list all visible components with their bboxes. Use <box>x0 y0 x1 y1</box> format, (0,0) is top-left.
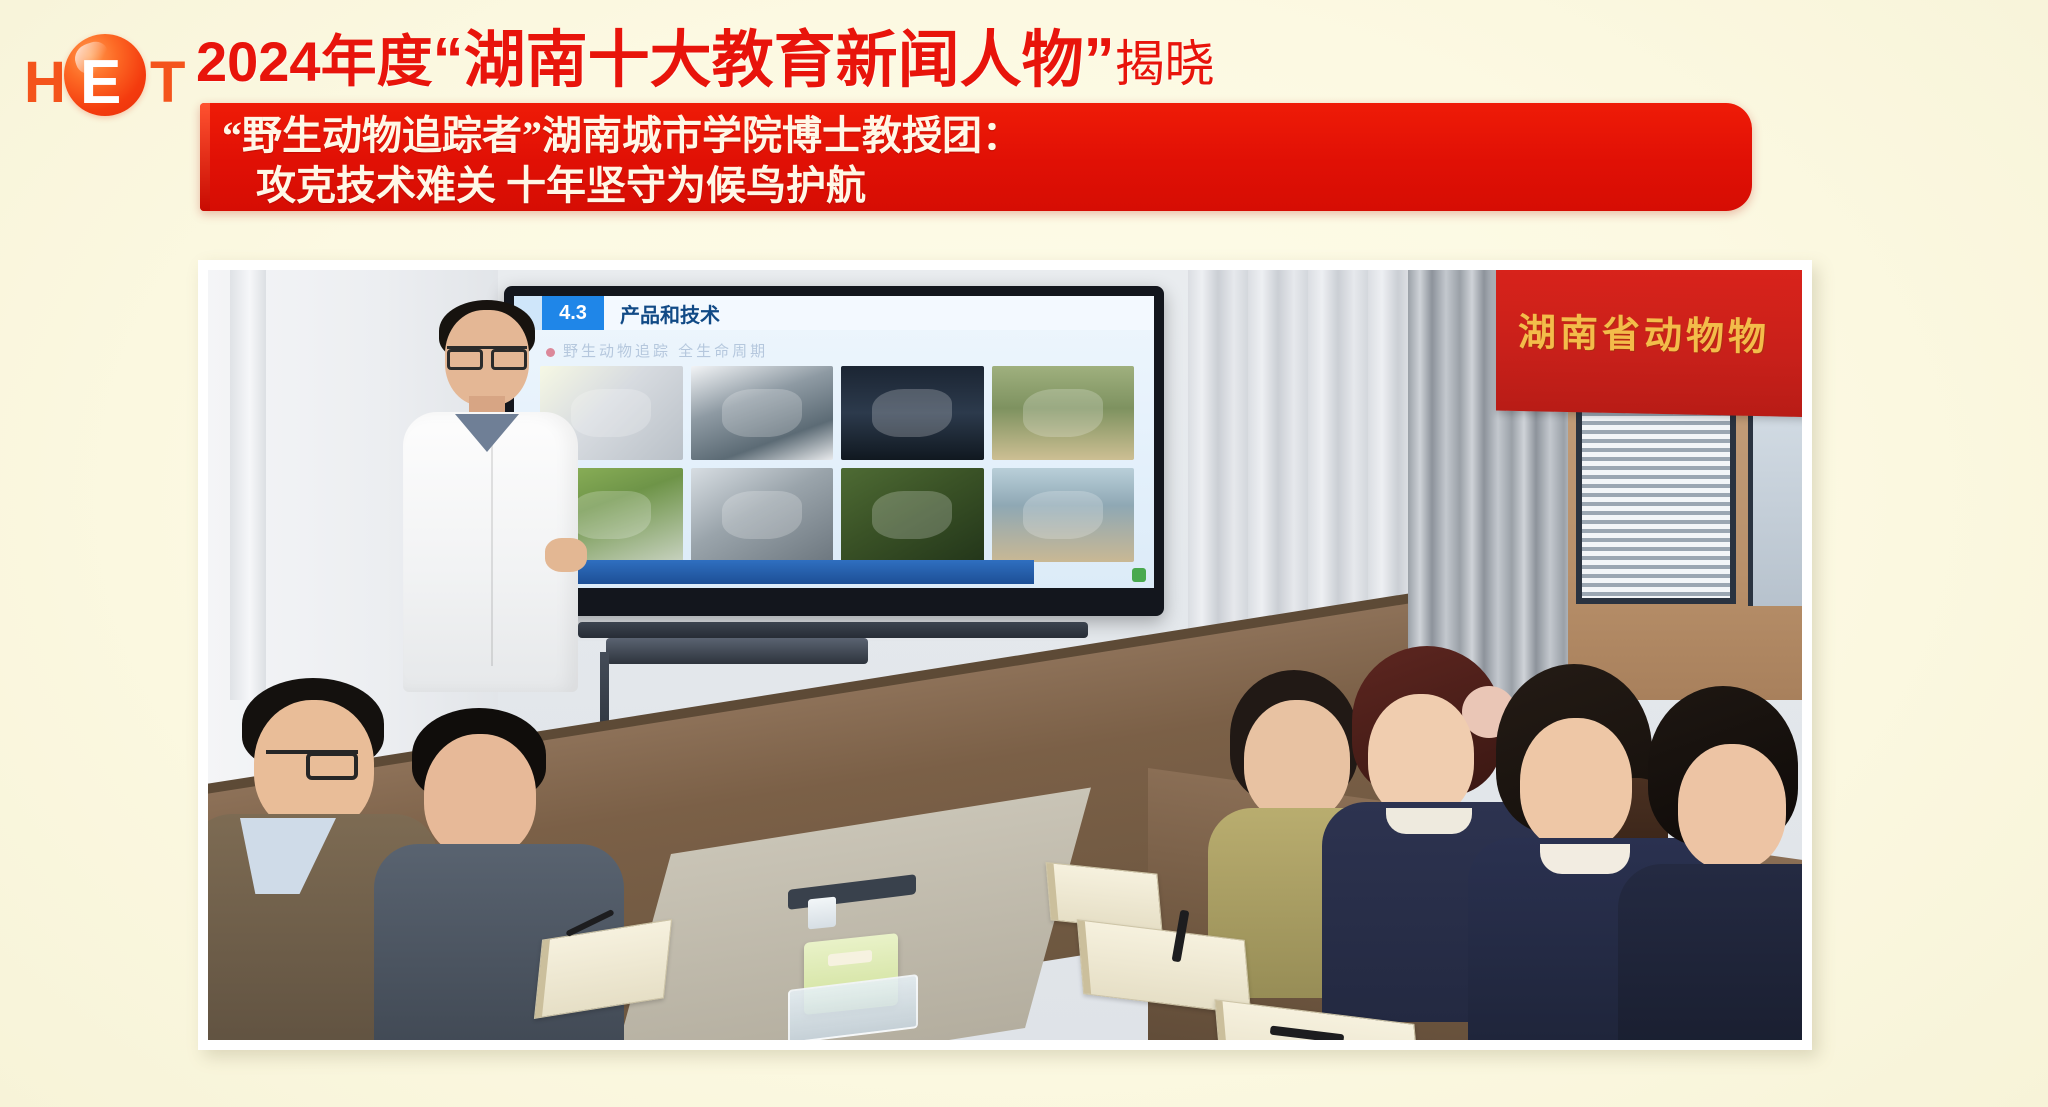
wall-column <box>230 270 266 700</box>
logo-letter-h: H <box>24 54 66 112</box>
attendee-collar <box>1540 844 1630 874</box>
presenter-figure <box>403 292 578 692</box>
headline-year: 2024年度 <box>196 30 433 93</box>
banner-line-1: “野生动物追踪者”湖南城市学院博士教授团： <box>222 111 1752 161</box>
slide-image <box>691 366 834 460</box>
banner-line-2: 攻克技术难关 十年坚守为候鸟护航 <box>222 161 1752 211</box>
page-title: 2024年度“湖南十大教育新闻人物”揭晓 <box>196 30 1215 92</box>
display-control-bar <box>606 638 868 664</box>
slide-footer-logo <box>1132 568 1146 582</box>
slide-bullet-text: 野生动物追踪 全生命周期 <box>546 340 768 361</box>
display-stand-bar <box>578 622 1088 638</box>
headline-banner: “野生动物追踪者”湖南城市学院博士教授团： 攻克技术难关 十年坚守为候鸟护航 <box>200 103 1752 211</box>
attendee-body <box>1618 864 1802 1040</box>
smartboard-display: 4.3 产品和技术 野生动物追踪 全生命周期 <box>504 286 1164 616</box>
logo-letter-e: E <box>80 52 121 114</box>
photo-frame: 湖南省动物物 4.3 产品和技术 野生动物追踪 全生命周期 <box>198 260 1812 1050</box>
presenter-hand <box>545 538 587 572</box>
attendee-head <box>1520 718 1632 850</box>
slide-logo-mark-icon <box>1132 568 1146 582</box>
wall-banner: 湖南省动物物 <box>1496 270 1802 417</box>
attendee-head <box>424 734 536 858</box>
slide-image <box>841 366 984 460</box>
slide-image <box>691 468 834 562</box>
slide-image <box>992 468 1135 562</box>
headline-quoted: “湖南十大教育新闻人物” <box>433 26 1115 95</box>
attendee-collar <box>1386 808 1472 834</box>
slide-header: 4.3 产品和技术 <box>514 296 1154 330</box>
attendee-glasses-icon <box>266 750 358 768</box>
meeting-photo: 湖南省动物物 4.3 产品和技术 野生动物追踪 全生命周期 <box>208 270 1802 1040</box>
presentation-slide: 4.3 产品和技术 野生动物追踪 全生命周期 <box>514 296 1154 588</box>
slide-footer-bar <box>558 560 1034 584</box>
cup <box>808 897 836 930</box>
attendee-head <box>1368 694 1474 818</box>
slide-image <box>841 468 984 562</box>
het-logo: H E T <box>22 34 202 116</box>
logo-letter-t: T <box>150 54 185 112</box>
wall-banner-text: 湖南省动物物 <box>1518 301 1770 361</box>
notebook <box>1045 862 1162 932</box>
slide-section-title: 产品和技术 <box>604 296 1154 330</box>
slide-bullet-label: 野生动物追踪 全生命周期 <box>563 343 768 360</box>
headline-tail: 揭晓 <box>1115 36 1215 92</box>
slide-image-grid <box>540 366 1134 562</box>
presenter-glasses-icon <box>447 346 527 361</box>
attendee-head <box>1678 744 1786 870</box>
attendee-right-4 <box>1628 678 1802 1040</box>
slide-image <box>992 366 1135 460</box>
